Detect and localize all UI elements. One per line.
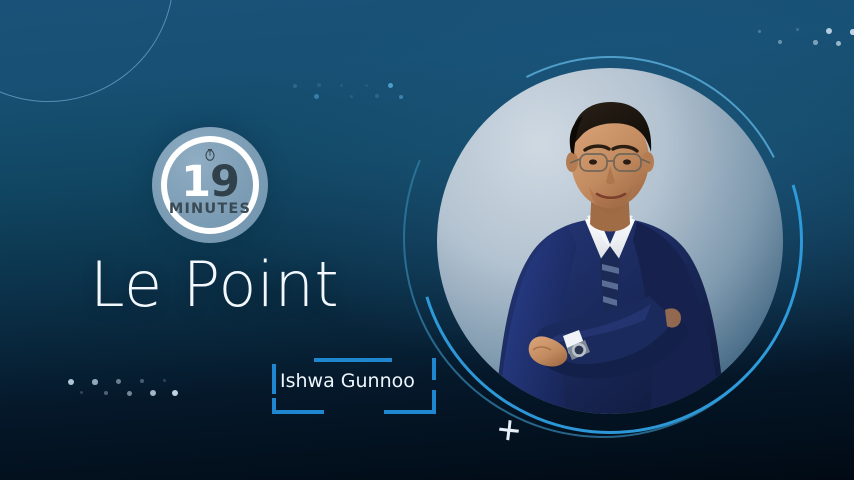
badge-unit-label: MINUTES (152, 201, 268, 217)
badge-number-second: 9 (210, 157, 239, 207)
bracket-bottom-right (432, 390, 436, 414)
program-title: Le Point (90, 248, 339, 321)
presenter-portrait (417, 48, 803, 434)
bracket-bottom-bar-l (272, 410, 324, 414)
presenter-name: Ishwa Gunnoo (280, 370, 450, 392)
badge-number-first: 1 (181, 157, 210, 207)
bracket-bottom-bar-r (384, 410, 436, 414)
dot-grid-top-right (756, 10, 854, 52)
bracket-top-left (272, 364, 276, 394)
bracket-top-bar (314, 358, 392, 362)
dot-grid-bottom-left (68, 378, 188, 406)
dot-grid-middle (293, 78, 403, 108)
broadcast-title-card: 19 MINUTES Le Point Ishwa Gunnoo (0, 0, 854, 480)
plus-icon (497, 418, 523, 444)
duration-badge: 19 MINUTES (152, 127, 268, 243)
badge-number: 19 (152, 161, 268, 204)
presenter-name-plate: Ishwa Gunnoo (272, 358, 442, 414)
